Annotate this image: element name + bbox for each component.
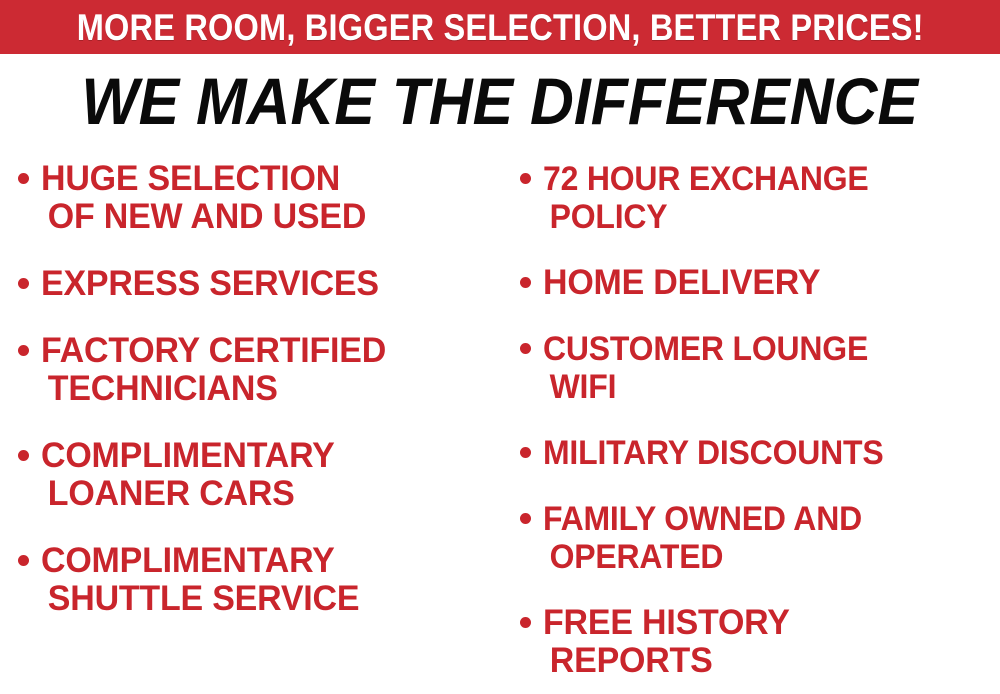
list-item: HOME DELIVERY [520,264,998,302]
list-item-line-1: CUSTOMER LOUNGE [543,330,868,368]
round-bullet-icon [520,447,531,458]
list-item-line-2: LOANER CARS [41,475,335,513]
list-item-line-1: FREE HISTORY [543,603,790,642]
round-bullet-icon [18,173,29,184]
round-bullet-icon [18,450,29,461]
list-item: EXPRESS SERVICES [18,265,494,303]
page-title: WE MAKE THE DIFFERENCE [82,68,919,134]
headline-container: WE MAKE THE DIFFERENCE [0,62,1000,140]
list-item-label: 72 HOUR EXCHANGEPOLICY [543,160,869,236]
list-item-label: MILITARY DISCOUNTS [543,434,883,472]
list-item-line-1: HOME DELIVERY [543,263,820,302]
benefits-column-left: HUGE SELECTIONOF NEW AND USED EXPRESS SE… [0,160,500,647]
list-item-label: HUGE SELECTIONOF NEW AND USED [41,160,366,236]
list-item: FAMILY OWNED ANDOPERATED [520,500,998,576]
list-item: HUGE SELECTIONOF NEW AND USED [18,160,494,236]
benefits-column-right: 72 HOUR EXCHANGEPOLICY HOME DELIVERY CUS… [500,160,1000,694]
dealership-promo-poster: MORE ROOM, BIGGER SELECTION, BETTER PRIC… [0,0,1000,694]
list-item: COMPLIMENTARYLOANER CARS [18,437,494,513]
list-item: MILITARY DISCOUNTS [520,434,998,472]
list-item-label: FACTORY CERTIFIEDTECHNICIANS [41,332,386,408]
list-item-line-1: COMPLIMENTARY [41,436,335,475]
list-item-line-1: EXPRESS SERVICES [41,264,379,303]
list-item-line-1: HUGE SELECTION [41,159,340,198]
list-item-label: HOME DELIVERY [543,264,820,302]
list-item-line-1: 72 HOUR EXCHANGE [543,160,869,198]
list-item: FACTORY CERTIFIEDTECHNICIANS [18,332,494,408]
list-item-label: COMPLIMENTARYLOANER CARS [41,437,335,513]
round-bullet-icon [520,617,531,628]
list-item-line-2: TECHNICIANS [41,370,386,408]
list-item-line-2: OF NEW AND USED [41,198,366,236]
list-item-line-1: MILITARY DISCOUNTS [543,434,883,472]
list-item: FREE HISTORYREPORTS [520,604,998,680]
list-item-label: CUSTOMER LOUNGEWIFI [543,330,868,406]
list-item-label: COMPLIMENTARYSHUTTLE SERVICE [41,542,359,618]
list-item-line-2: REPORTS [543,642,790,680]
list-item-line-1: FAMILY OWNED AND [543,500,862,538]
list-item-label: FREE HISTORYREPORTS [543,604,790,680]
round-bullet-icon [520,173,531,184]
round-bullet-icon [520,277,531,288]
round-bullet-icon [520,343,531,354]
round-bullet-icon [18,278,29,289]
top-banner: MORE ROOM, BIGGER SELECTION, BETTER PRIC… [0,0,1000,54]
round-bullet-icon [18,555,29,566]
top-banner-text: MORE ROOM, BIGGER SELECTION, BETTER PRIC… [77,9,924,46]
list-item-line-2: OPERATED [543,538,862,576]
list-item-line-1: COMPLIMENTARY [41,541,335,580]
list-item-line-2: SHUTTLE SERVICE [41,580,359,618]
benefits-columns: HUGE SELECTIONOF NEW AND USED EXPRESS SE… [0,160,1000,694]
list-item: COMPLIMENTARYSHUTTLE SERVICE [18,542,494,618]
list-item: CUSTOMER LOUNGEWIFI [520,330,998,406]
list-item: 72 HOUR EXCHANGEPOLICY [520,160,998,236]
list-item-line-2: WIFI [543,368,868,406]
list-item-line-1: FACTORY CERTIFIED [41,331,386,370]
list-item-label: EXPRESS SERVICES [41,265,379,303]
round-bullet-icon [520,513,531,524]
list-item-line-2: POLICY [543,198,869,236]
list-item-label: FAMILY OWNED ANDOPERATED [543,500,862,576]
round-bullet-icon [18,345,29,356]
